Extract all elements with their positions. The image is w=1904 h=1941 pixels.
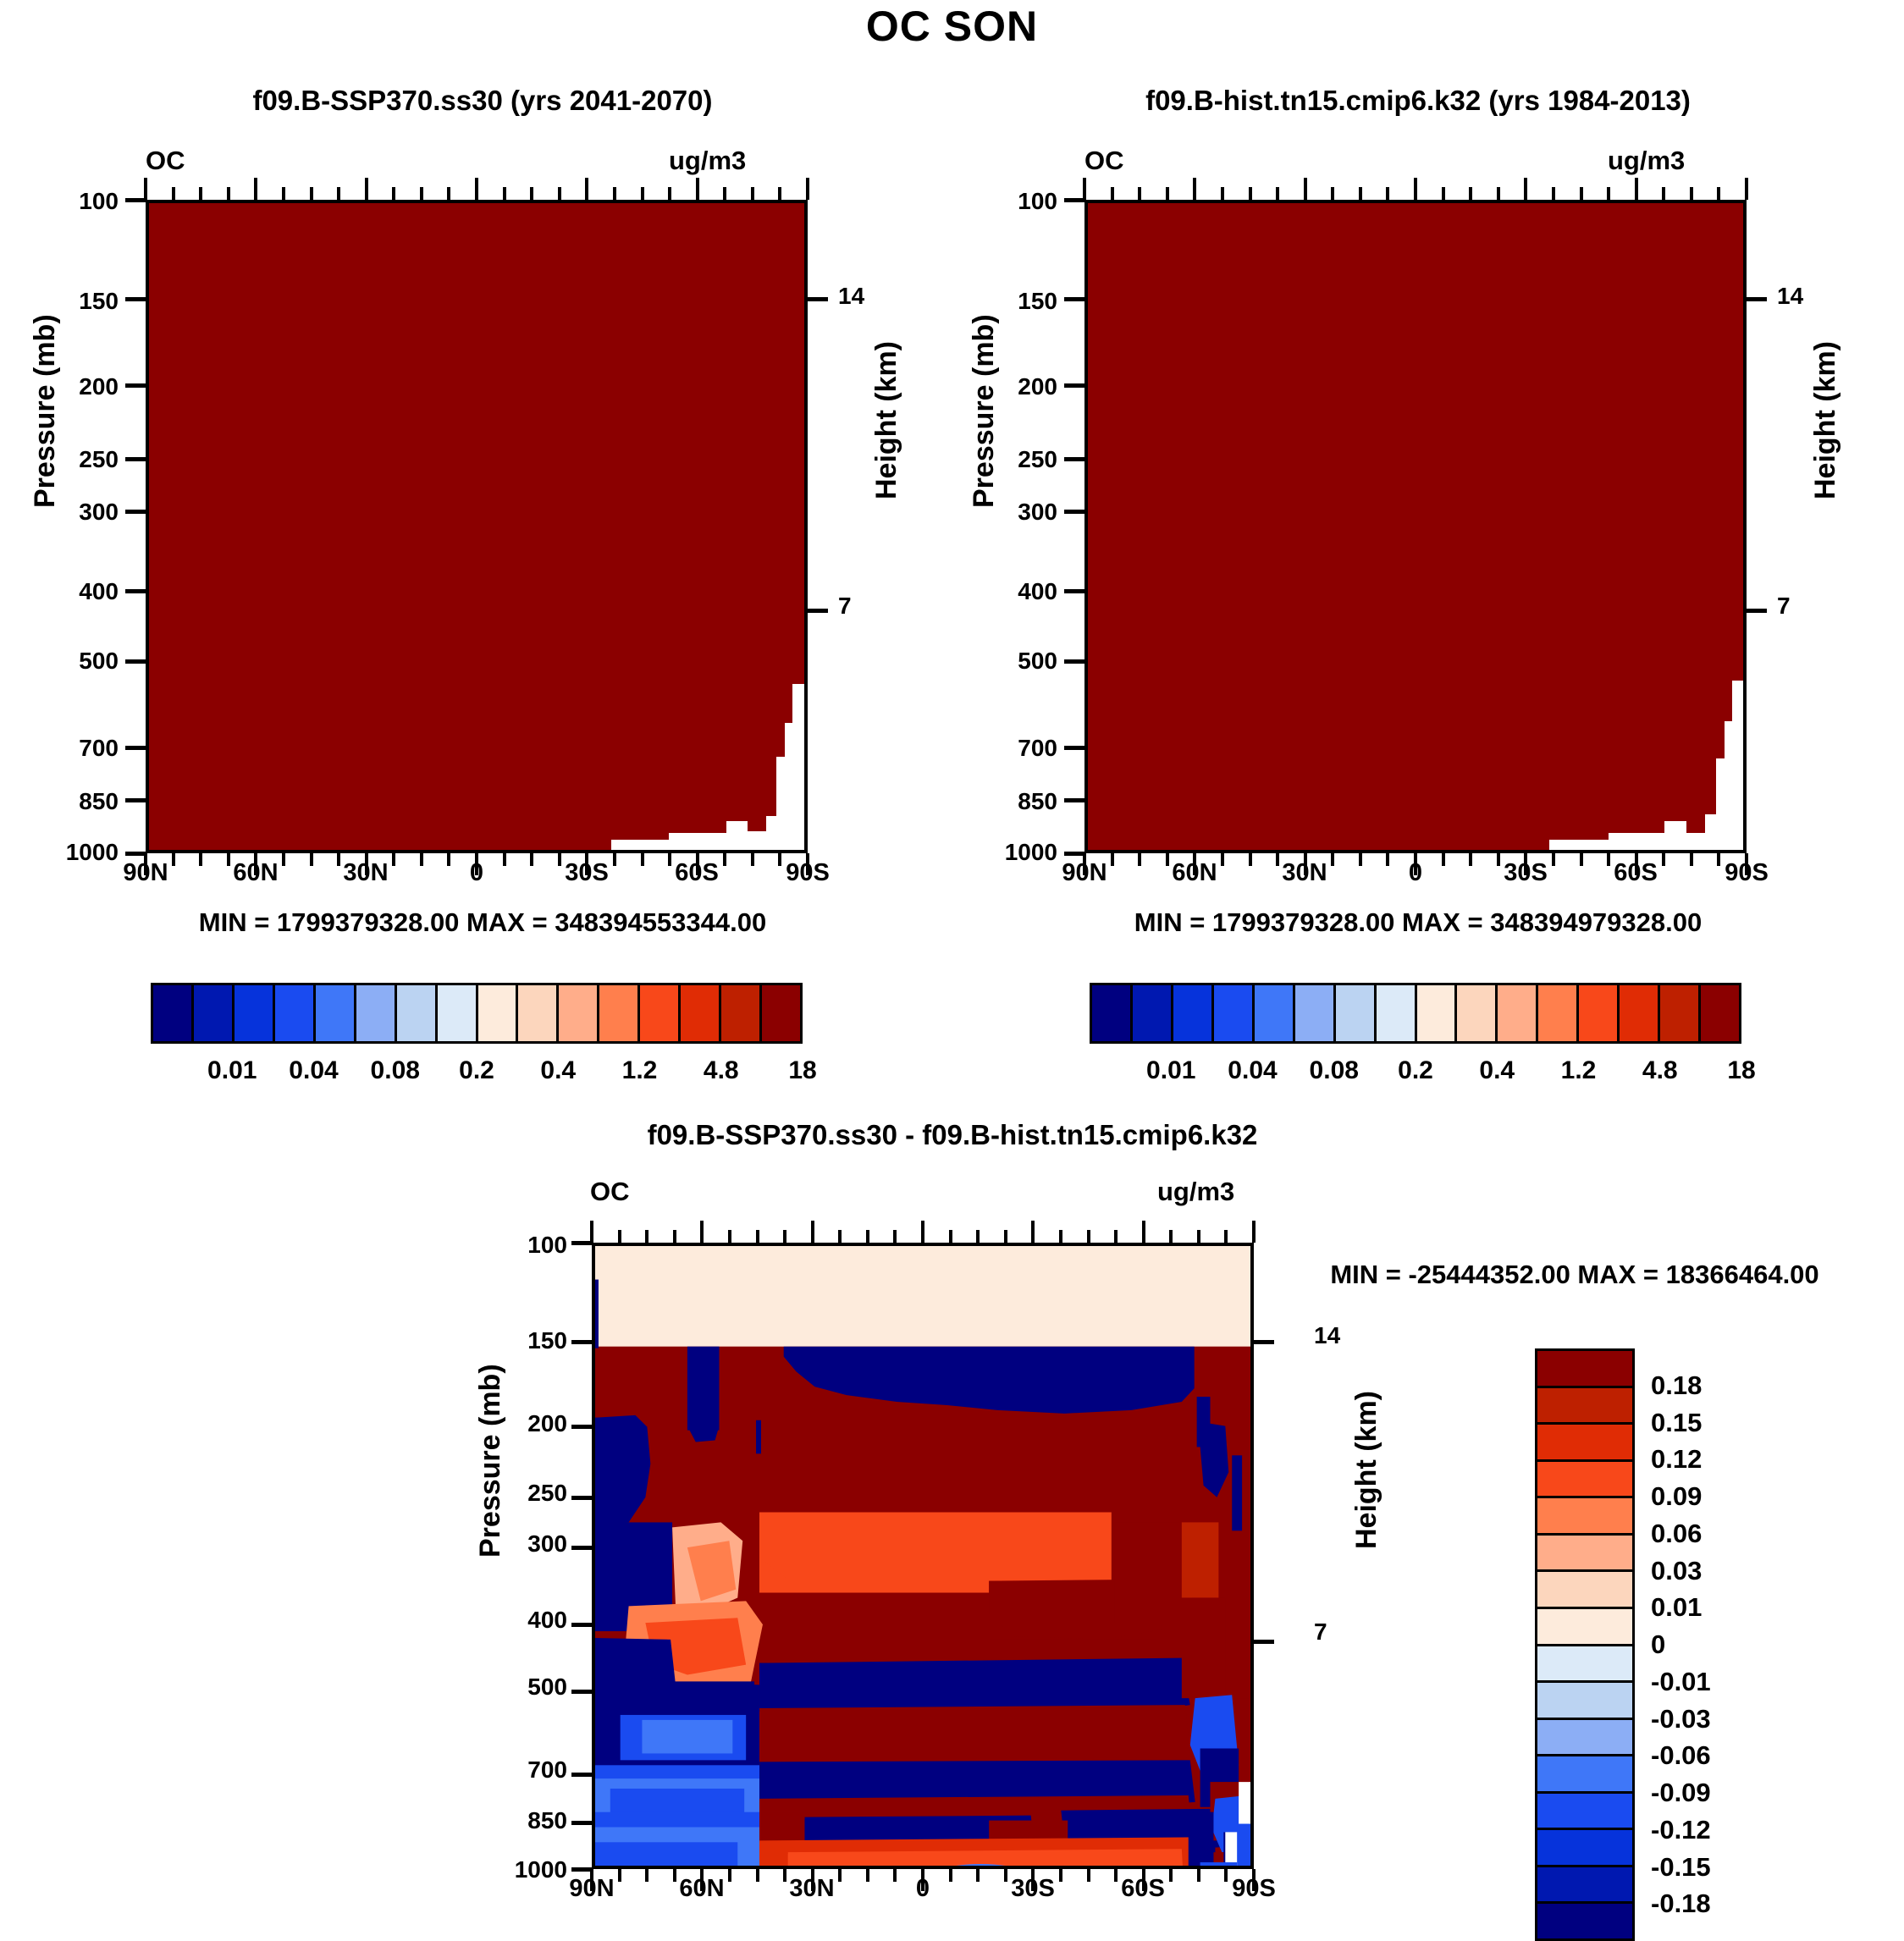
colorbar-cell (1295, 985, 1336, 1041)
tick-mark (668, 853, 671, 866)
y-right-axis-title-top-left: Height (km) (870, 341, 903, 499)
tick-mark (172, 853, 175, 866)
tick-mark (1031, 1869, 1035, 1891)
y-tick-label: 850 (25, 788, 119, 815)
tick-mark (1662, 187, 1665, 200)
tick-mark (921, 1221, 924, 1243)
tick-mark (392, 853, 395, 866)
colorbar-cell (1255, 985, 1295, 1041)
y-right-tick-label: 14 (838, 283, 864, 310)
colorbar-tick-label: -0.15 (1651, 1852, 1711, 1883)
tick-mark (1064, 746, 1084, 750)
tick-mark (1524, 178, 1527, 200)
tick-mark (1064, 457, 1084, 461)
tick-mark (1747, 609, 1767, 613)
y-tick-label: 500 (25, 648, 119, 675)
colorbar-cell (1579, 985, 1620, 1041)
corner-label-variable-difference: OC (590, 1177, 630, 1207)
tick-mark (125, 746, 146, 750)
y-right-tick-label: 7 (838, 593, 852, 620)
tick-mark (392, 187, 395, 200)
tick-mark (571, 1773, 592, 1777)
tick-mark (1166, 187, 1169, 200)
tick-mark (1064, 297, 1084, 301)
colorbar-cell (1173, 985, 1214, 1041)
tick-mark (447, 187, 450, 200)
tick-mark (1635, 178, 1638, 200)
tick-mark (1635, 853, 1638, 875)
tick-mark (1142, 1221, 1145, 1243)
tick-mark (645, 1230, 648, 1243)
colorbar-tick-label: -0.18 (1651, 1889, 1711, 1919)
tick-mark (728, 1230, 731, 1243)
tick-mark (723, 853, 726, 866)
tick-mark (751, 187, 754, 200)
tick-mark (1524, 853, 1527, 875)
missing-data-region (1686, 833, 1705, 850)
tick-mark (1142, 1869, 1145, 1891)
tick-mark (1169, 1869, 1173, 1882)
colorbar-tick-label: 1.2 (622, 1056, 658, 1085)
tick-mark (1064, 383, 1084, 388)
tick-mark (811, 1221, 814, 1243)
min-max-label-difference: MIN = -25444352.00 MAX = 18366464.00 (1278, 1260, 1871, 1290)
y-tick-label: 300 (474, 1530, 567, 1558)
corner-label-units-difference: ug/m3 (1157, 1177, 1234, 1207)
colorbar-cell (1092, 985, 1133, 1041)
tick-mark (1064, 659, 1084, 664)
missing-data-region (776, 757, 785, 850)
colorbar-cell (1701, 985, 1739, 1041)
colorbar-tick-label: 0.01 (1651, 1592, 1702, 1623)
colorbar-cell (721, 985, 762, 1041)
missing-data-region (748, 831, 766, 850)
tick-mark (673, 1230, 676, 1243)
contour-region (595, 1842, 737, 1866)
tick-mark (571, 1546, 592, 1550)
tick-mark (1386, 187, 1389, 200)
tick-mark (756, 1869, 759, 1882)
y-tick-label: 250 (474, 1480, 567, 1507)
figure-title: OC SON (0, 2, 1904, 51)
tick-mark (1580, 853, 1583, 866)
tick-mark (1745, 853, 1748, 875)
tick-mark (696, 178, 699, 200)
tick-mark (756, 1230, 759, 1243)
colorbar-tick-label: 18 (788, 1056, 816, 1085)
colorbar-tick-label: 0.15 (1651, 1408, 1702, 1438)
tick-mark (1193, 178, 1196, 200)
tick-mark (806, 853, 809, 875)
tick-mark (585, 178, 588, 200)
colorbar-cell (397, 985, 438, 1041)
tick-mark (1087, 1869, 1090, 1882)
colorbar-cell (1537, 1609, 1632, 1646)
colorbar-tick-label: 1.2 (1561, 1056, 1597, 1085)
y-tick-label: 850 (474, 1807, 567, 1834)
y-tick-label: 700 (25, 735, 119, 762)
colorbar-tick-label: 0.06 (1651, 1519, 1702, 1549)
y-tick-label: 100 (474, 1232, 567, 1259)
colorbar-cell (1537, 1572, 1632, 1609)
tick-mark (838, 1230, 842, 1243)
y-right-tick-label: 7 (1777, 593, 1791, 620)
colorbar-tick-label: 0.2 (1398, 1056, 1433, 1085)
colorbar-cell (1538, 985, 1579, 1041)
panel-title-top-right: f09.B-hist.tn15.cmip6.k32 (yrs 1984-2013… (982, 85, 1854, 117)
colorbar-tick-label: 4.8 (1642, 1056, 1678, 1085)
y-axis-title-top-left: Pressure (mb) (29, 314, 62, 508)
min-max-label-top-right: MIN = 1799379328.00 MAX = 348394979328.0… (982, 907, 1854, 938)
colorbar-tick-label: -0.12 (1651, 1815, 1711, 1845)
tick-mark (1166, 853, 1169, 866)
tick-mark (571, 1690, 592, 1694)
tick-mark (475, 178, 478, 200)
contour-region (1237, 1824, 1250, 1866)
tick-mark (1359, 853, 1362, 866)
contour-region (756, 1420, 761, 1454)
colorbar-tick-label: 0.08 (1310, 1056, 1359, 1085)
tick-mark (1064, 510, 1084, 514)
contour-fill-difference (595, 1246, 1250, 1866)
tick-mark (1114, 1869, 1118, 1882)
tick-mark (1083, 853, 1086, 875)
y-right-axis-title-top-right: Height (km) (1809, 341, 1842, 499)
tick-mark (125, 798, 146, 802)
tick-mark (503, 853, 506, 866)
colorbar-tick-label: 0.08 (371, 1056, 420, 1085)
colorbar-horizontal-right[interactable] (1090, 983, 1741, 1044)
tick-mark (125, 297, 146, 301)
colorbar-vertical-difference[interactable] (1535, 1348, 1635, 1941)
tick-mark (949, 1230, 952, 1243)
near-zero-cap (595, 1246, 1250, 1347)
missing-data-region (1664, 821, 1686, 850)
colorbar-horizontal-left[interactable] (151, 983, 803, 1044)
tick-mark (282, 187, 285, 200)
tick-mark (1031, 1221, 1035, 1243)
y-right-tick-label: 14 (1314, 1322, 1340, 1349)
tick-mark (613, 853, 616, 866)
tick-mark (1221, 187, 1224, 200)
panel-title-top-left: f09.B-SSP370.ss30 (yrs 2041-2070) (51, 85, 914, 117)
tick-mark (1138, 187, 1141, 200)
contour-region (1192, 1597, 1226, 1698)
colorbar-tick-label: 0.12 (1651, 1444, 1702, 1475)
tick-mark (590, 1221, 593, 1243)
tick-mark (811, 1869, 814, 1891)
tick-mark (558, 187, 561, 200)
contour-fill-top-right (1088, 203, 1743, 850)
colorbar-cell (1537, 1720, 1632, 1757)
colorbar-tick-label: 0.4 (1479, 1056, 1515, 1085)
tick-mark (1469, 187, 1472, 200)
tick-mark (1221, 853, 1224, 866)
y-right-axis-title-difference: Height (km) (1350, 1391, 1383, 1549)
colorbar-cell (1377, 985, 1417, 1041)
tick-mark (199, 853, 202, 866)
tick-mark (1193, 853, 1196, 875)
y-tick-label: 700 (474, 1756, 567, 1784)
tick-mark (1197, 1230, 1200, 1243)
tick-mark (420, 187, 423, 200)
colorbar-cell (1660, 985, 1701, 1041)
colorbar-cell (1537, 1388, 1632, 1425)
y-tick-label: 300 (964, 499, 1057, 526)
tick-mark (1497, 853, 1500, 866)
colorbar-tick-label: 0.01 (207, 1056, 257, 1085)
tick-mark (1249, 853, 1252, 866)
colorbar-cell (1537, 1794, 1632, 1831)
colorbar-cell (438, 985, 478, 1041)
tick-mark (571, 1241, 592, 1245)
corner-label-units-top-left: ug/m3 (669, 146, 746, 176)
y-tick-label: 500 (964, 648, 1057, 675)
missing-data-region (766, 816, 776, 850)
tick-mark (673, 1869, 676, 1882)
tick-mark (1064, 852, 1084, 856)
tick-mark (530, 853, 533, 866)
tick-mark (1111, 187, 1114, 200)
tick-mark (921, 1869, 924, 1891)
colorbar-cell (356, 985, 397, 1041)
tick-mark (696, 853, 699, 875)
tick-mark (1690, 187, 1693, 200)
colorbar-cell (1537, 1646, 1632, 1684)
tick-mark (1442, 853, 1445, 866)
tick-mark (783, 1869, 786, 1882)
tick-mark (1607, 853, 1610, 866)
contour-fill-top-left (149, 203, 804, 850)
colorbar-cell (681, 985, 721, 1041)
tick-mark (1386, 853, 1389, 866)
missing-data-region (1609, 833, 1664, 850)
colorbar-cell (235, 985, 275, 1041)
tick-mark (808, 297, 828, 301)
colorbar-cell (559, 985, 599, 1041)
tick-mark (1169, 1230, 1173, 1243)
panel-title-difference: f09.B-SSP370.ss30 - f09.B-hist.tn15.cmip… (470, 1119, 1435, 1151)
colorbar-cell (1537, 1425, 1632, 1462)
tick-mark (806, 178, 809, 200)
tick-mark (723, 187, 726, 200)
y-right-tick-label: 14 (1777, 283, 1803, 310)
min-max-label-top-left: MIN = 1799379328.00 MAX = 348394553344.0… (51, 907, 914, 938)
colorbar-cell (1498, 985, 1538, 1041)
tick-mark (613, 187, 616, 200)
tick-mark (1111, 853, 1114, 866)
corner-label-variable-top-right: OC (1084, 146, 1124, 176)
tick-mark (1064, 589, 1084, 593)
y-tick-label: 200 (474, 1410, 567, 1437)
missing-data-region (1732, 681, 1743, 850)
tick-mark (866, 1230, 869, 1243)
colorbar-cell (1214, 985, 1255, 1041)
nh-polar-blue (595, 1418, 621, 1527)
contour-plot-difference[interactable] (592, 1243, 1254, 1869)
y-tick-label: 400 (964, 578, 1057, 605)
tick-mark (808, 609, 828, 613)
tick-mark (571, 1425, 592, 1429)
colorbar-tick-label: 4.8 (704, 1056, 739, 1085)
missing-data-region (1716, 758, 1725, 850)
tick-mark (1083, 178, 1086, 200)
tick-mark (700, 1869, 704, 1891)
tick-mark (282, 853, 285, 866)
colorbar-horizontal-right-labels: 0.010.040.080.20.41.24.818 (1090, 1056, 1741, 1090)
tick-mark (227, 853, 230, 866)
contour-region (610, 1789, 744, 1814)
tick-mark (254, 853, 257, 875)
tick-mark (125, 457, 146, 461)
colorbar-cell (1537, 1351, 1632, 1388)
tick-mark (125, 383, 146, 388)
colorbar-cell (1537, 1756, 1632, 1794)
colorbar-cell (762, 985, 800, 1041)
contour-region (642, 1720, 732, 1754)
tick-mark (1059, 1869, 1062, 1882)
tick-mark (618, 1230, 621, 1243)
missing-data-region (792, 684, 804, 850)
tick-mark (1359, 187, 1362, 200)
missing-data-region (1725, 721, 1732, 850)
tick-mark (571, 1821, 592, 1825)
colorbar-cell (1457, 985, 1498, 1041)
y-axis-title-top-right: Pressure (mb) (968, 314, 1001, 508)
tick-mark (1607, 187, 1610, 200)
tick-mark (641, 187, 644, 200)
tick-mark (1114, 1230, 1118, 1243)
colorbar-cell (518, 985, 559, 1041)
tick-mark (866, 1869, 869, 1882)
tick-mark (475, 853, 478, 875)
tick-mark (700, 1221, 704, 1243)
contour-region (1200, 1862, 1238, 1866)
tick-mark (1497, 187, 1500, 200)
tick-mark (1469, 853, 1472, 866)
tick-mark (1304, 178, 1307, 200)
tick-mark (420, 853, 423, 866)
colorbar-cell (1537, 1683, 1632, 1720)
tick-mark (778, 187, 781, 200)
colorbar-tick-label: 0.09 (1651, 1481, 1702, 1512)
tick-mark (125, 198, 146, 202)
colorbar-vertical-difference-labels: 0.180.150.120.090.060.030.010-0.01-0.03-… (1651, 1348, 1837, 1941)
tick-mark (783, 1230, 786, 1243)
colorbar-cell (640, 985, 681, 1041)
tick-mark (838, 1869, 842, 1882)
y-tick-label: 700 (964, 735, 1057, 762)
y-tick-label: 500 (474, 1674, 567, 1701)
tick-mark (503, 187, 506, 200)
tick-mark (976, 1230, 980, 1243)
tick-mark (1304, 853, 1307, 875)
tick-mark (1552, 187, 1555, 200)
colorbar-tick-label: 0.03 (1651, 1556, 1702, 1586)
tick-mark (645, 1869, 648, 1882)
y-tick-label: 300 (25, 499, 119, 526)
contour-plot-top-left[interactable] (146, 200, 808, 853)
y-tick-label: 400 (25, 578, 119, 605)
tick-mark (1224, 1230, 1228, 1243)
tick-mark (585, 853, 588, 875)
colorbar-cell (1417, 985, 1458, 1041)
tick-mark (590, 1869, 593, 1891)
colorbar-cell (599, 985, 640, 1041)
tick-mark (1442, 187, 1445, 200)
tick-mark (172, 187, 175, 200)
tick-mark (949, 1869, 952, 1882)
tick-mark (571, 1867, 592, 1872)
tick-mark (310, 187, 313, 200)
colorbar-tick-label: 0.04 (289, 1056, 338, 1085)
tick-mark (1745, 178, 1748, 200)
colorbar-tick-label: -0.06 (1651, 1740, 1711, 1771)
y-tick-label: 150 (964, 288, 1057, 315)
tick-mark (618, 1869, 621, 1882)
y-axis-title-difference: Pressure (mb) (474, 1364, 507, 1558)
tick-mark (1717, 187, 1720, 200)
contour-region (595, 1280, 599, 1348)
tick-mark (227, 187, 230, 200)
tick-mark (1662, 853, 1665, 866)
tick-mark (1276, 853, 1279, 866)
tick-mark (571, 1623, 592, 1627)
y-tick-label: 850 (964, 788, 1057, 815)
tick-mark (1249, 187, 1252, 200)
tick-mark (254, 178, 257, 200)
tick-mark (751, 853, 754, 866)
tick-mark (125, 589, 146, 593)
contour-region (687, 1347, 720, 1431)
tick-mark (1690, 853, 1693, 866)
colorbar-tick-label: 0.4 (540, 1056, 576, 1085)
tick-mark (1331, 853, 1334, 866)
y-tick-label: 100 (25, 188, 119, 215)
tick-mark (1252, 1221, 1256, 1243)
colorbar-horizontal-left-labels: 0.010.040.080.20.41.24.818 (151, 1056, 803, 1090)
y-tick-label: 200 (25, 373, 119, 400)
colorbar-tick-label: -0.09 (1651, 1778, 1711, 1808)
tick-mark (1059, 1230, 1062, 1243)
tick-mark (125, 852, 146, 856)
colorbar-tick-label: 0.01 (1146, 1056, 1195, 1085)
tick-mark (1254, 1340, 1274, 1344)
colorbar-cell (478, 985, 519, 1041)
tick-mark (199, 187, 202, 200)
colorbar-tick-label: 18 (1727, 1056, 1755, 1085)
tick-mark (1197, 1869, 1200, 1882)
colorbar-cell (316, 985, 356, 1041)
contour-region (1182, 1522, 1219, 1597)
tick-mark (1414, 178, 1417, 200)
tick-mark (728, 1869, 731, 1882)
corner-label-units-top-right: ug/m3 (1608, 146, 1685, 176)
colorbar-cell (275, 985, 316, 1041)
tick-mark (558, 853, 561, 866)
contour-region (1189, 1812, 1214, 1866)
tick-mark (1580, 187, 1583, 200)
colorbar-tick-label: -0.03 (1651, 1704, 1711, 1734)
colorbar-cell (1537, 1830, 1632, 1867)
tick-mark (530, 187, 533, 200)
colorbar-cell (1133, 985, 1173, 1041)
contour-plot-top-right[interactable] (1084, 200, 1747, 853)
tick-mark (1004, 1869, 1007, 1882)
tick-mark (125, 659, 146, 664)
tick-mark (1087, 1230, 1090, 1243)
tick-mark (1717, 853, 1720, 866)
